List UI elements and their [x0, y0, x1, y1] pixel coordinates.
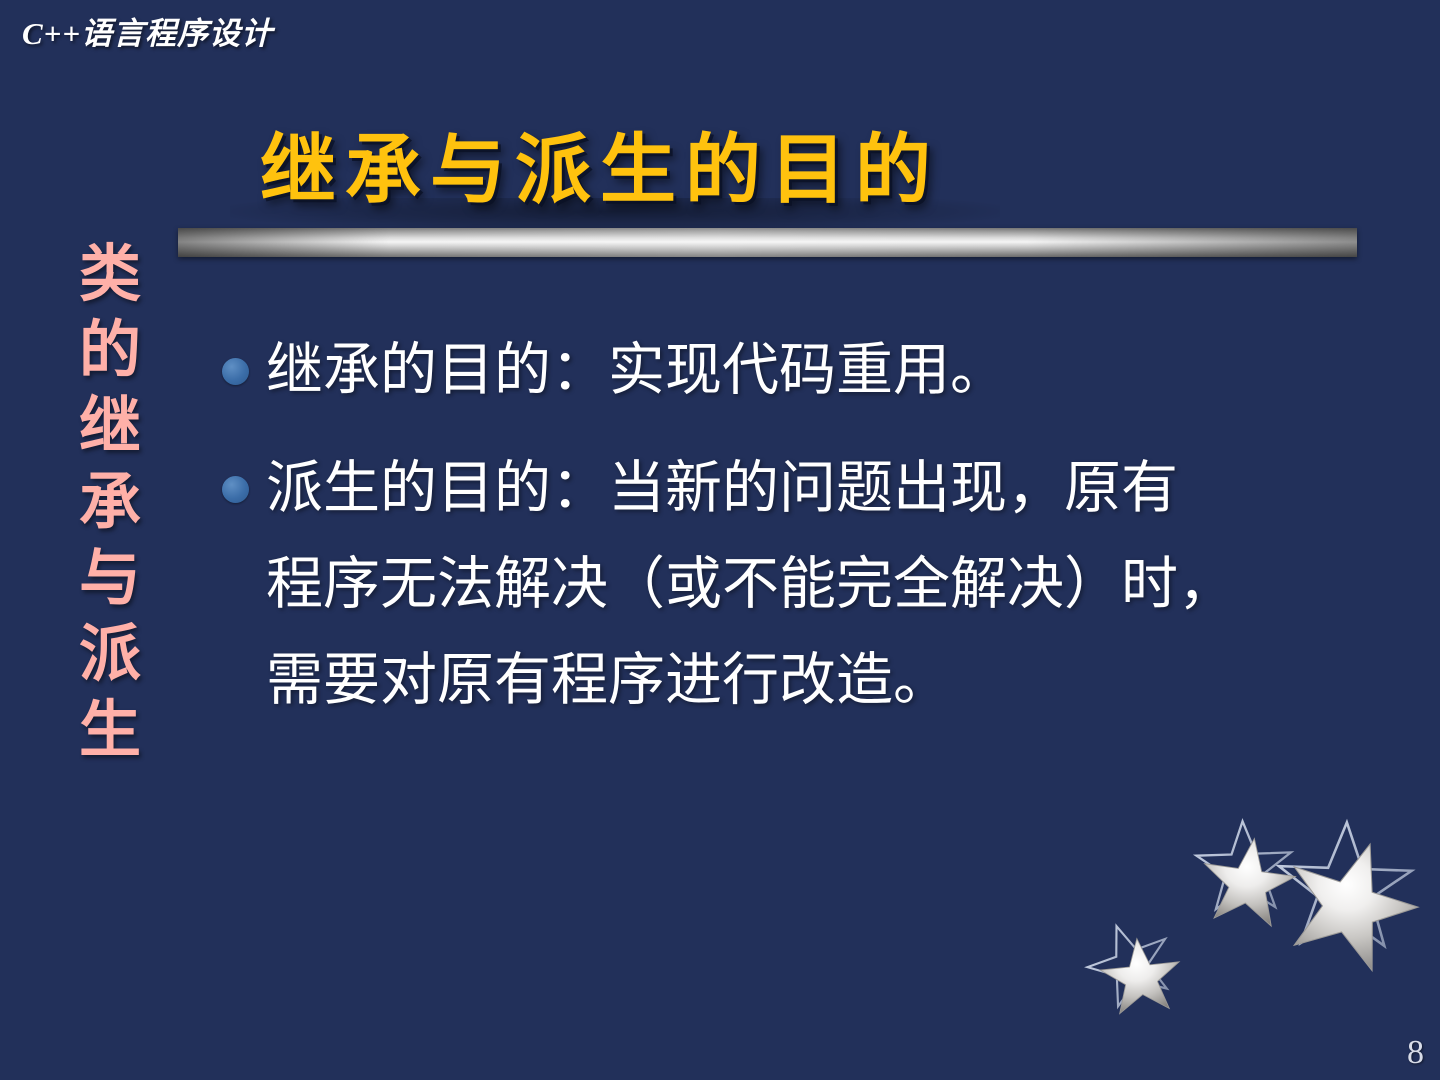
side-label-char: 派	[79, 616, 141, 692]
bullet-dot-icon	[222, 358, 249, 385]
side-label-char: 承	[79, 464, 141, 540]
bullet-item: 继承的目的：实现代码重用。	[222, 322, 1402, 418]
bullet-text: 派生的目的：当新的问题出现，原有 程序无法解决（或不能完全解决）时， 需要对原有…	[266, 440, 1402, 728]
star-large-right	[1244, 806, 1440, 982]
side-label-char: 生	[79, 692, 141, 768]
metallic-rule-divider	[178, 228, 1357, 257]
bullet-line: 程序无法解决（或不能完全解决）时，	[266, 536, 1402, 632]
bullet-line: 需要对原有程序进行改造。	[266, 632, 1402, 728]
star-medium-top	[1183, 807, 1305, 929]
side-label-char: 与	[79, 540, 141, 616]
side-label-char: 类	[79, 236, 141, 312]
decorative-stars-group	[1056, 806, 1440, 1046]
course-header-label: C++语言程序设计	[22, 8, 273, 53]
slide-body: 继承的目的：实现代码重用。 派生的目的：当新的问题出现，原有 程序无法解决（或不…	[222, 322, 1402, 728]
bullet-line: 继承的目的：实现代码重用。	[266, 322, 1402, 418]
page-number: 8	[1407, 1034, 1424, 1072]
bullet-item: 派生的目的：当新的问题出现，原有 程序无法解决（或不能完全解决）时， 需要对原有…	[222, 440, 1402, 728]
bullet-line: 派生的目的：当新的问题出现，原有	[266, 440, 1402, 536]
star-small-left	[1076, 910, 1184, 1017]
bullet-dot-icon	[222, 476, 249, 503]
bullet-text: 继承的目的：实现代码重用。	[266, 322, 1402, 418]
vertical-section-label: 类 的 继 承 与 派 生	[58, 236, 162, 768]
side-label-char: 继	[79, 388, 141, 464]
slide-canvas: C++语言程序设计 继承与派生的目的 类 的 继 承 与 派 生 继承的目的：实…	[0, 0, 1440, 1080]
slide-title: 继承与派生的目的	[0, 108, 1200, 218]
side-label-char: 的	[79, 312, 141, 388]
